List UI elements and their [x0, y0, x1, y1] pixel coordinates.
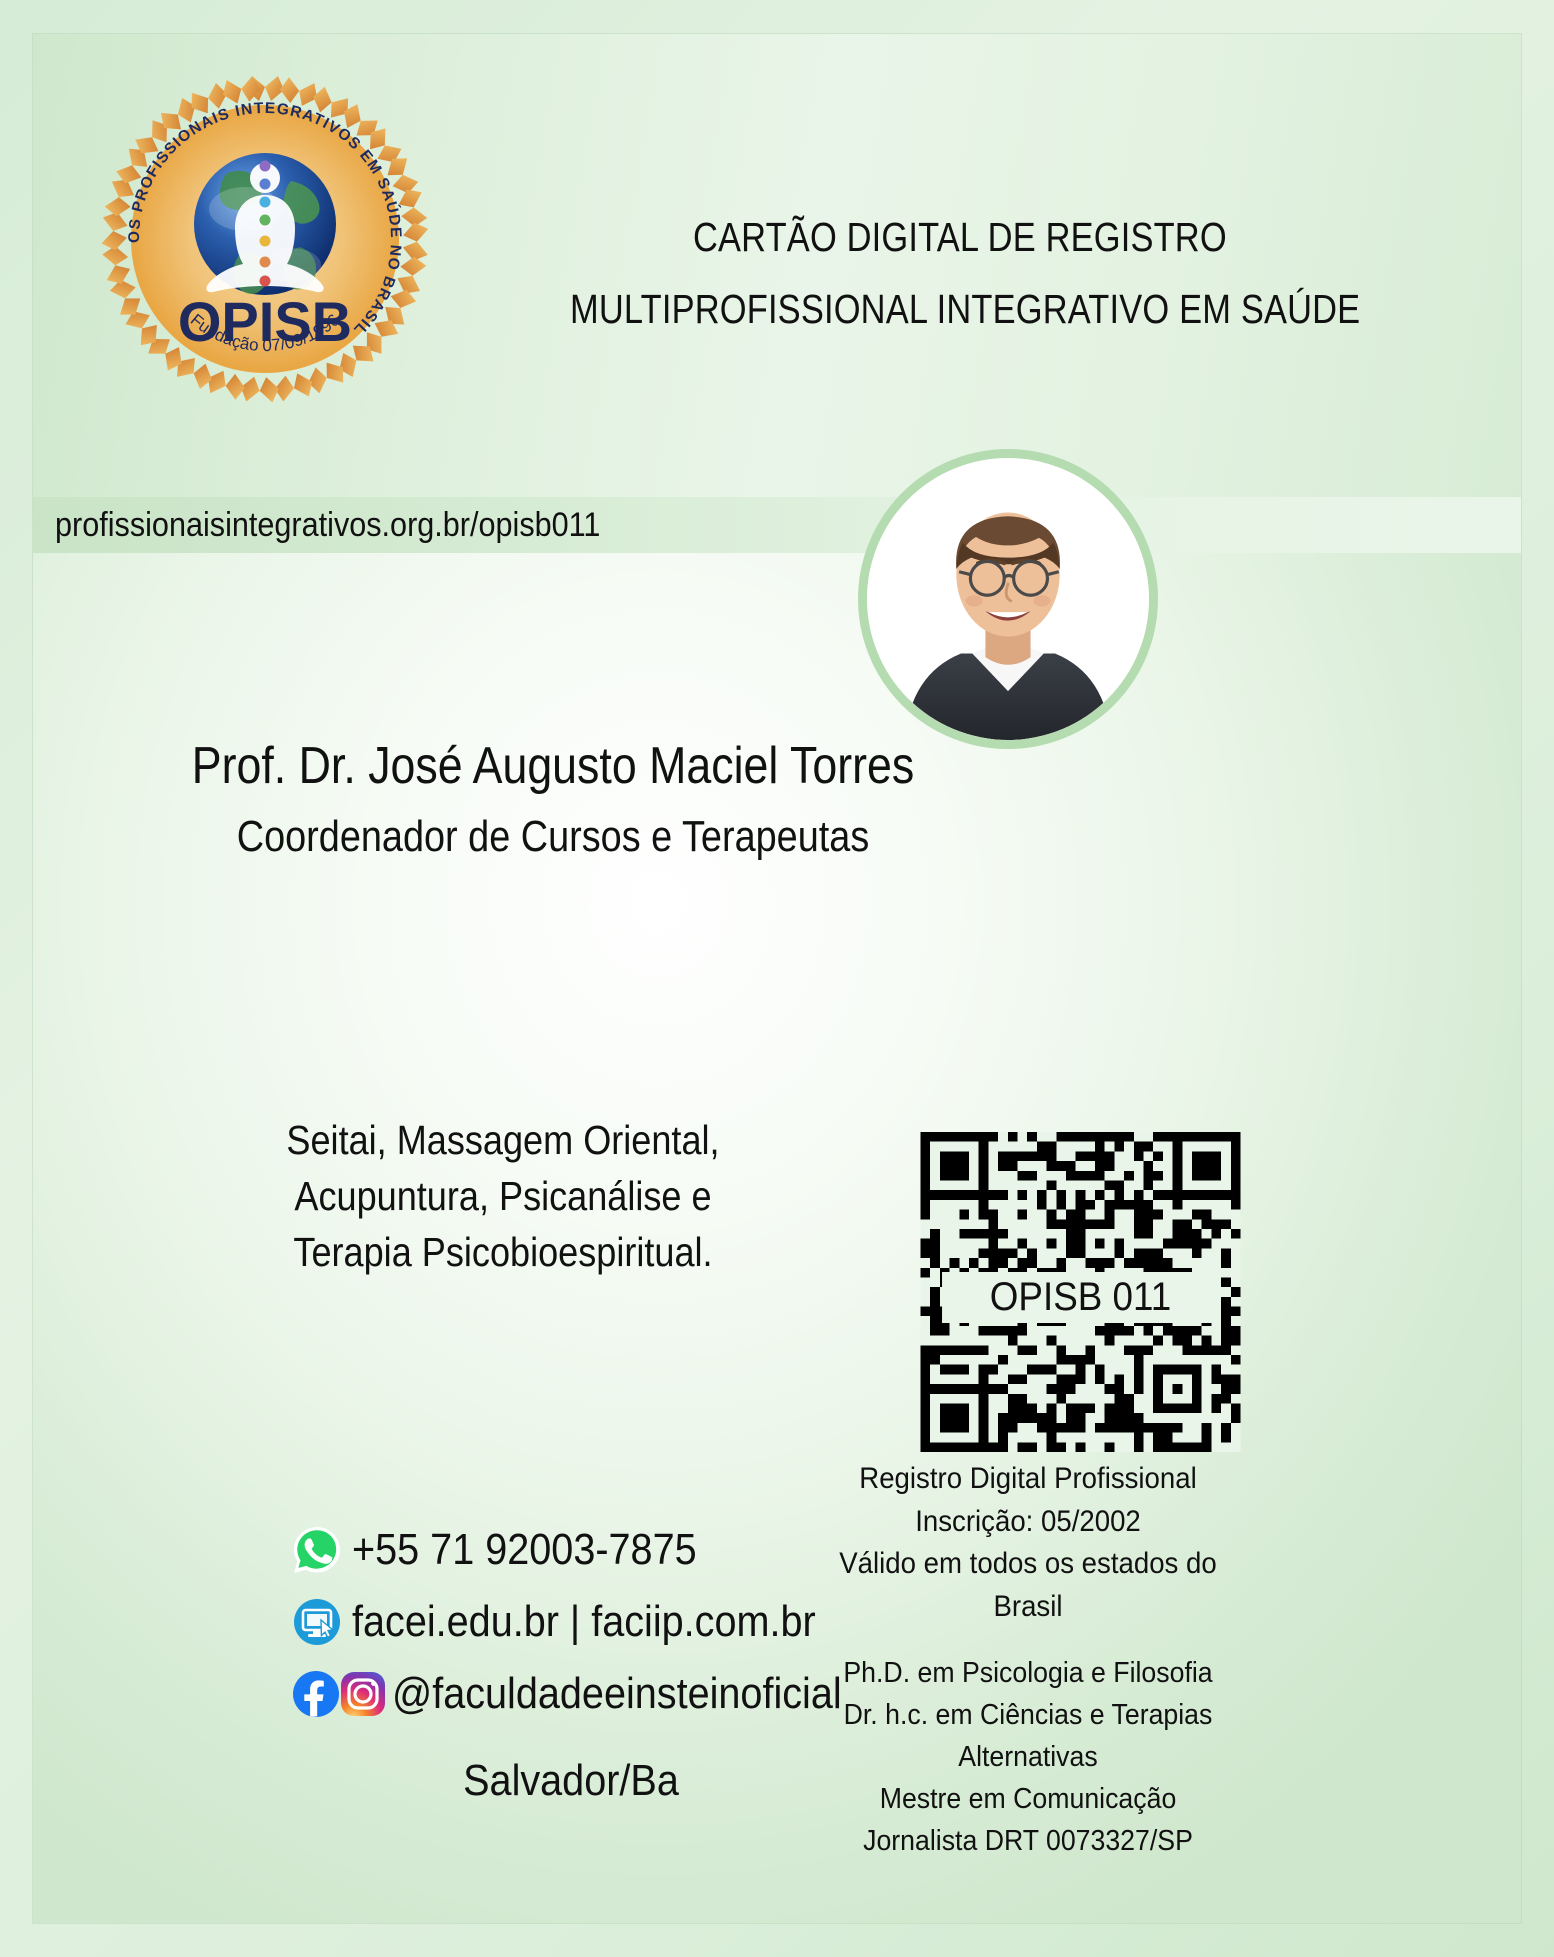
contact-row-phone[interactable]: +55 71 92003-7875	[291, 1519, 911, 1581]
profile-photo	[858, 449, 1158, 749]
page-title: Prof. Dr. José Augusto Maciel Torres	[175, 736, 932, 796]
social-handle: @faculdadeeinsteinoficial	[392, 1669, 842, 1719]
certificate-page: ORDEM DOS PROFISSIONAIS INTEGRATIVOS EM …	[0, 0, 1554, 1957]
qr-label: OPISB 011	[942, 1272, 1219, 1323]
certificate-card: ORDEM DOS PROFISSIONAIS INTEGRATIVOS EM …	[33, 34, 1521, 1923]
website-list: facei.edu.br | faciip.com.br	[352, 1597, 816, 1647]
contact-list: +55 71 92003-7875 facei.edu.br | faciip.…	[291, 1519, 911, 1735]
specialties-line-3: Terapia Psicobioespiritual.	[195, 1224, 811, 1280]
instagram-icon[interactable]	[338, 1669, 388, 1719]
city-label: Salvador/Ba	[319, 1756, 823, 1806]
credentials-line-4: Jornalista DRT 0073327/SP	[812, 1820, 1244, 1862]
qr-code[interactable]: OPISB 011	[918, 1132, 1243, 1452]
registry-url[interactable]: profissionaisintegrativos.org.br/opisb01…	[55, 506, 600, 545]
registration-line-1: Registro Digital Profissional	[812, 1458, 1244, 1501]
phone-number: +55 71 92003-7875	[352, 1525, 697, 1575]
contact-row-social[interactable]: @faculdadeeinsteinoficial	[291, 1663, 911, 1725]
monitor-icon	[291, 1596, 343, 1648]
contact-row-websites[interactable]: facei.edu.br | faciip.com.br	[291, 1591, 911, 1653]
opisb-logo: ORDEM DOS PROFISSIONAIS INTEGRATIVOS EM …	[95, 69, 435, 409]
specialties-line-1: Seitai, Massagem Oriental,	[195, 1112, 811, 1168]
facebook-icon[interactable]	[291, 1669, 341, 1719]
credentials-line-3: Mestre em Comunicação	[812, 1778, 1244, 1820]
profile-role: Coordenador de Cursos e Terapeutas	[175, 812, 932, 862]
header-title-line-1: CARTÃO DIGITAL DE REGISTRO	[693, 214, 1227, 261]
header-title-line-2: MULTIPROFISSIONAL INTEGRATIVO EM SAÚDE	[570, 286, 1360, 333]
specialties-block: Seitai, Massagem Oriental, Acupuntura, P…	[195, 1112, 811, 1280]
specialties-line-2: Acupuntura, Psicanálise e	[195, 1168, 811, 1224]
whatsapp-icon	[291, 1524, 343, 1576]
